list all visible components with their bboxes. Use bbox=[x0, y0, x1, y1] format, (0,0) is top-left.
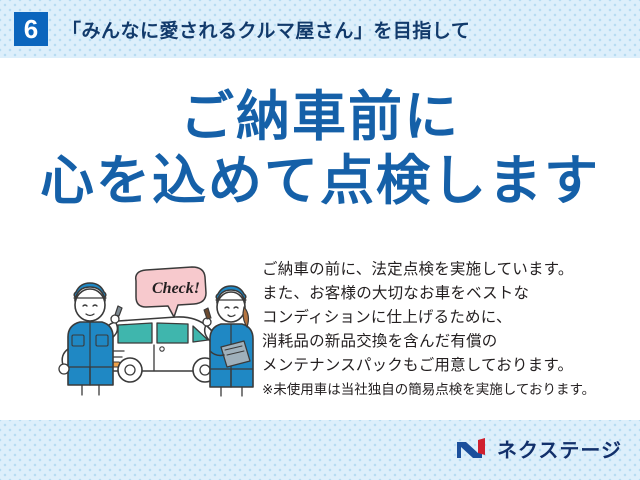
headline: ご納車前に 心を込めて点検します bbox=[0, 88, 640, 211]
mechanics-illustration-svg: Check! bbox=[58, 263, 258, 398]
header-title: 「みんなに愛されるクルマ屋さん」を目指して bbox=[62, 16, 470, 43]
nextage-n-mark-icon bbox=[456, 437, 490, 461]
body-line-4: 消耗品の新品交換を含んだ有償の bbox=[262, 330, 632, 354]
body-line-3: コンディションに仕上げるために、 bbox=[262, 306, 632, 330]
male-mechanic-figure bbox=[59, 283, 122, 395]
page-footer: ネクステージ bbox=[0, 420, 640, 480]
headline-line-1: ご納車前に bbox=[0, 88, 640, 146]
headline-line-2: 心を込めて点検します bbox=[0, 152, 640, 210]
body-footnote: ※未使用車は当社独自の簡易点検を実施しております。 bbox=[262, 378, 632, 402]
brand-logo: ネクステージ bbox=[456, 434, 622, 463]
check-bubble-label: Check! bbox=[152, 280, 200, 297]
section-number-badge: 6 bbox=[14, 12, 48, 46]
van-icon bbox=[100, 317, 226, 382]
body-line-2: また、お客様の大切なお車をベストな bbox=[262, 282, 632, 306]
body-text: ご納車の前に、法定点検を実施しています。 また、お客様の大切なお車をベストな コ… bbox=[262, 258, 632, 402]
brand-name: ネクステージ bbox=[497, 434, 622, 463]
content-panel: ご納車前に 心を込めて点検します ご納車の前に、法定点検を実施しています。 また… bbox=[0, 58, 640, 420]
body-line-5: メンテナンスパックもご用意しております。 bbox=[262, 354, 632, 378]
female-mechanic-figure bbox=[203, 286, 253, 396]
page-header: 6 「みんなに愛されるクルマ屋さん」を目指して bbox=[0, 0, 640, 58]
advertisement-page: 6 「みんなに愛されるクルマ屋さん」を目指して ご納車前に 心を込めて点検します… bbox=[0, 0, 640, 480]
body-line-1: ご納車の前に、法定点検を実施しています。 bbox=[262, 258, 632, 282]
mechanics-illustration: Check! bbox=[58, 263, 258, 398]
